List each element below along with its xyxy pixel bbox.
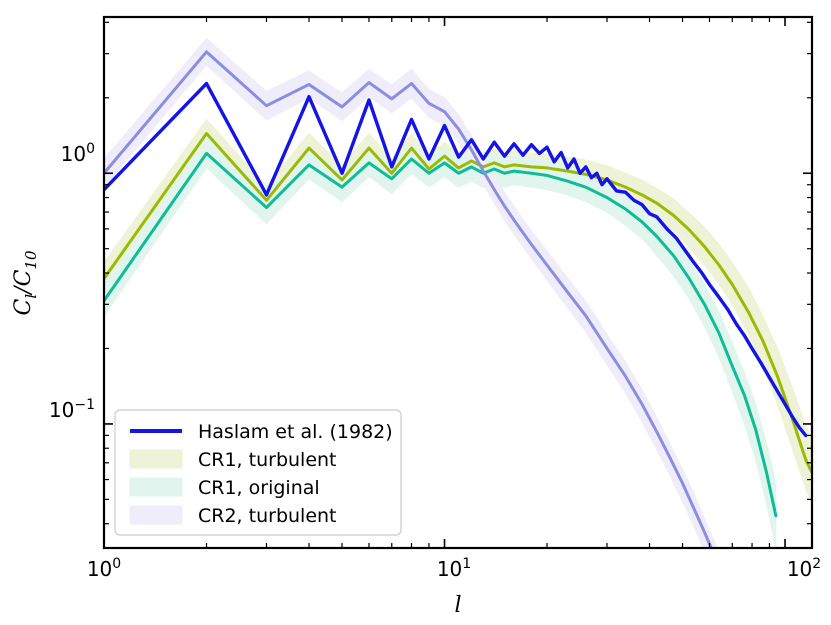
y-tick-label-2: 10−1 bbox=[49, 397, 95, 422]
x-tick-2-exp: 1 bbox=[462, 556, 471, 572]
figure-canvas: 100 101 102 100 10−1 l bbox=[0, 0, 831, 625]
svg-text:100: 100 bbox=[61, 141, 95, 166]
legend-label: CR1, turbulent bbox=[198, 449, 337, 471]
x-tick-label-2: 101 bbox=[437, 556, 471, 581]
legend-item-1[interactable]: CR1, turbulent bbox=[130, 449, 337, 471]
y-tick-1-base: 10 bbox=[61, 142, 86, 166]
y-axis-title: Cl/C10 bbox=[11, 250, 40, 315]
x-tick-label-3: 102 bbox=[787, 556, 821, 581]
x-tick-1-exp: 0 bbox=[112, 556, 121, 572]
y-tick-1-exp: 0 bbox=[86, 141, 95, 157]
svg-text:Cl/C10: Cl/C10 bbox=[11, 250, 40, 315]
svg-text:101: 101 bbox=[437, 556, 471, 581]
x-axis-title: l bbox=[454, 593, 461, 618]
y-title-denominator: C bbox=[11, 269, 36, 286]
legend-item-2[interactable]: CR1, original bbox=[130, 477, 320, 499]
legend-label: CR2, turbulent bbox=[198, 505, 337, 527]
svg-text:102: 102 bbox=[787, 556, 821, 581]
legend-label: Haslam et al. (1982) bbox=[198, 421, 393, 443]
legend[interactable]: Haslam et al. (1982)CR1, turbulentCR1, o… bbox=[115, 410, 401, 535]
y-title-den-sub: 10 bbox=[22, 250, 40, 270]
line-chart: 100 101 102 100 10−1 l bbox=[0, 0, 831, 625]
svg-text:100: 100 bbox=[87, 556, 121, 581]
legend-item-3[interactable]: CR2, turbulent bbox=[130, 505, 337, 527]
y-tick-label-1: 100 bbox=[61, 141, 95, 166]
x-tick-3-base: 10 bbox=[787, 557, 812, 581]
x-tick-label-1: 100 bbox=[87, 556, 121, 581]
y-tick-2-base: 10 bbox=[49, 398, 74, 422]
legend-label: CR1, original bbox=[198, 477, 320, 499]
y-tick-2-exp: −1 bbox=[74, 397, 95, 413]
legend-patch-swatch bbox=[130, 506, 182, 524]
svg-text:10−1: 10−1 bbox=[49, 397, 95, 422]
y-title-numerator: C bbox=[11, 299, 36, 316]
legend-patch-swatch bbox=[130, 478, 182, 496]
legend-patch-swatch bbox=[130, 450, 182, 468]
x-tick-1-base: 10 bbox=[87, 557, 112, 581]
x-tick-2-base: 10 bbox=[437, 557, 462, 581]
x-tick-3-exp: 2 bbox=[812, 556, 821, 572]
